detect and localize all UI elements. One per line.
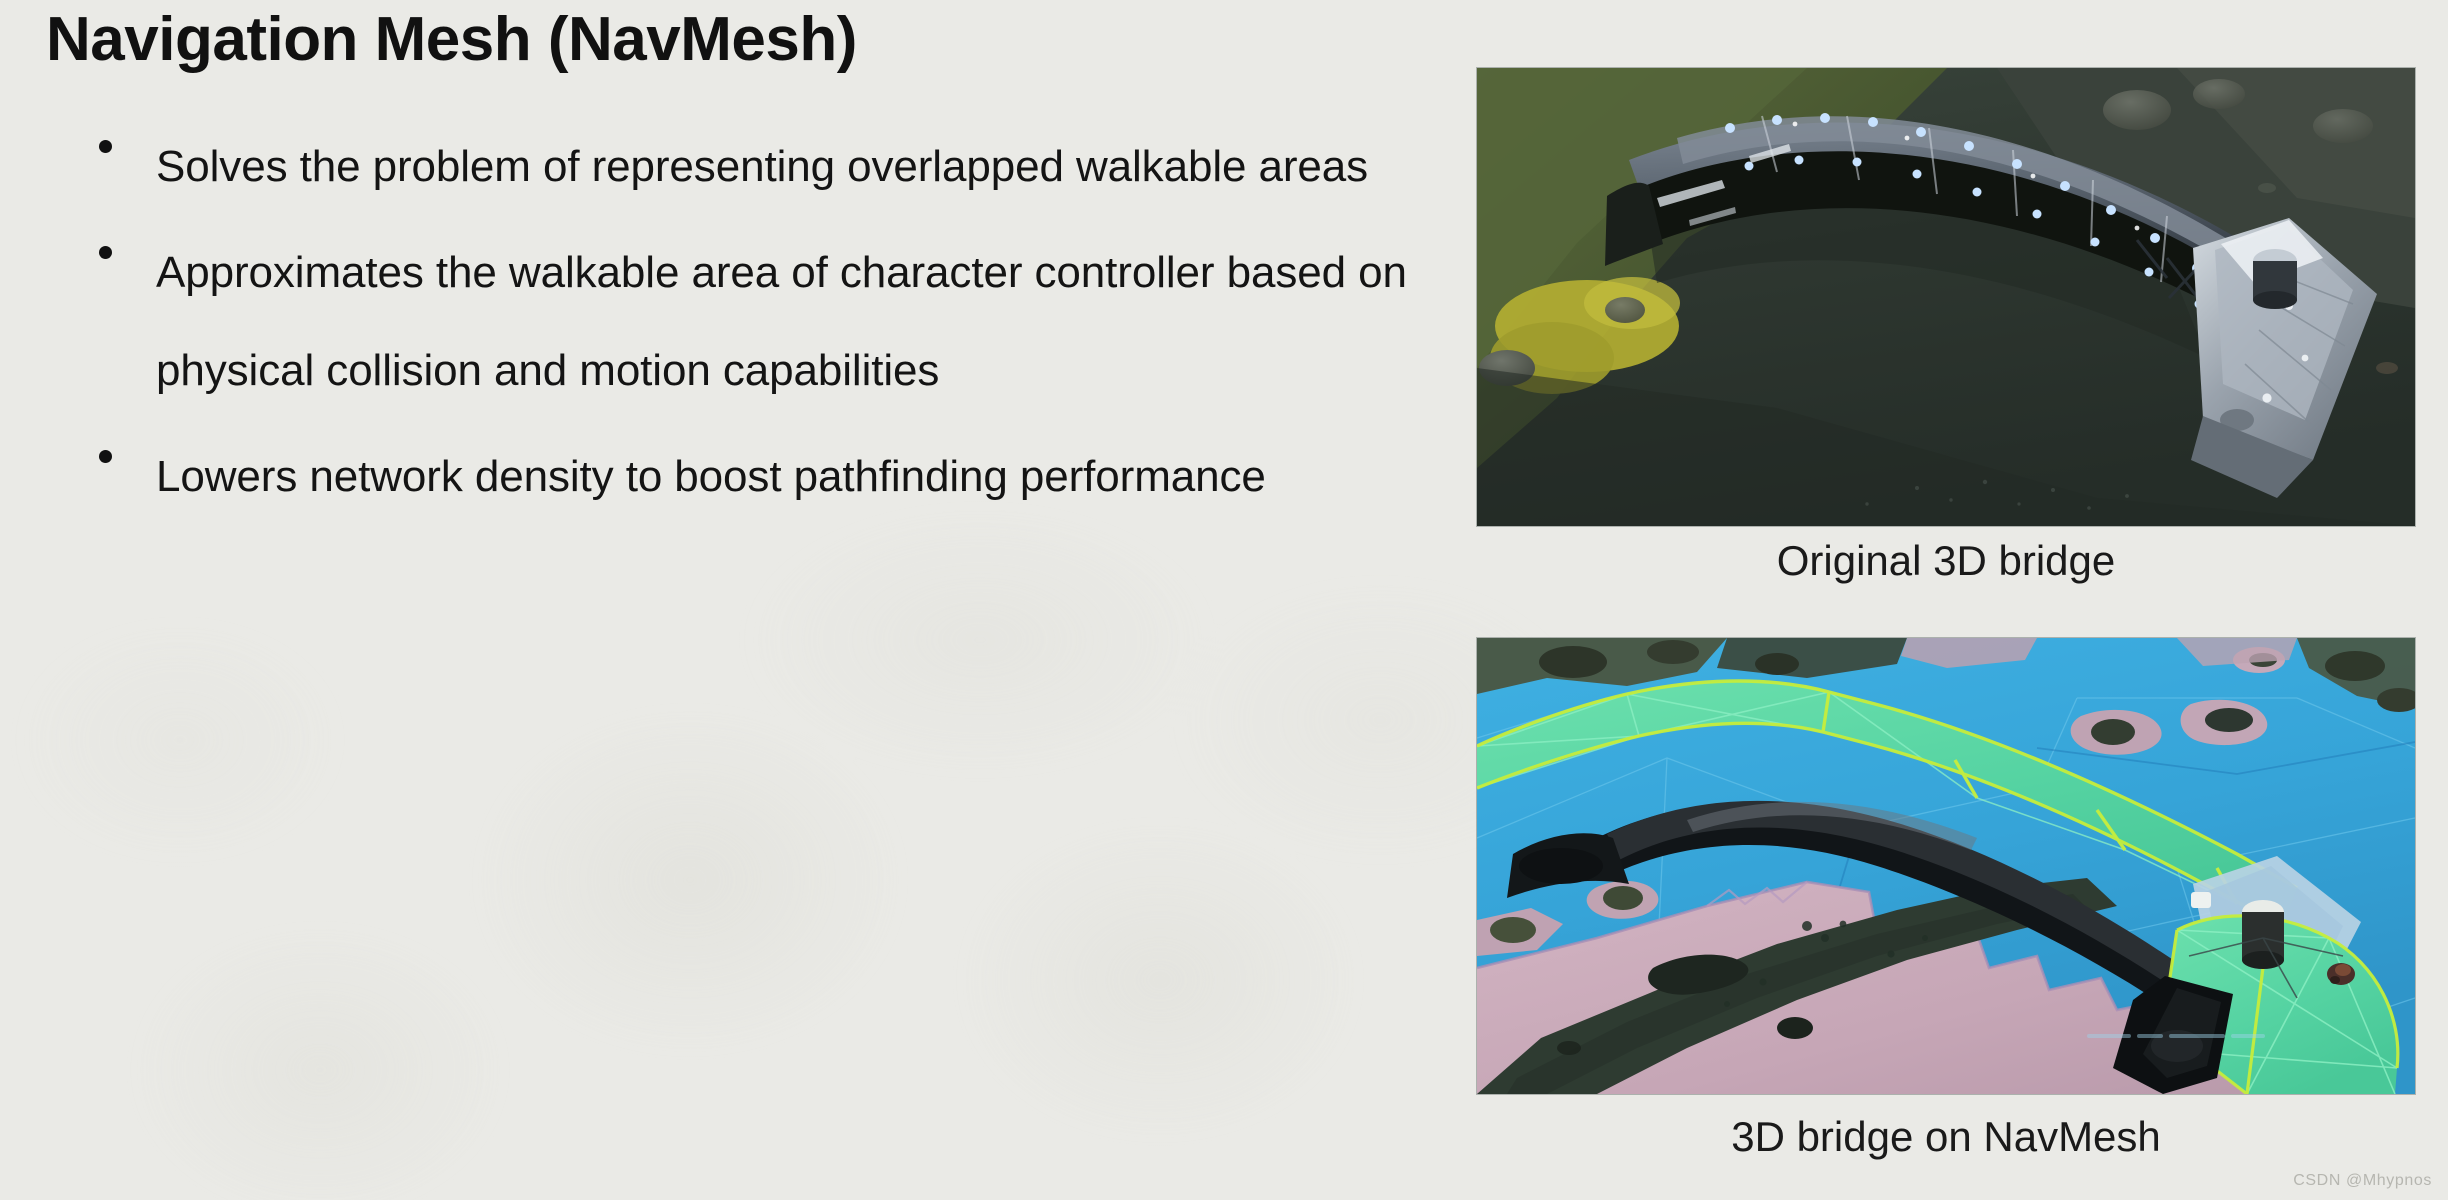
bullet-text: Lowers network density to boost pathfind… [156, 428, 1426, 526]
figure-caption-original: Original 3D bridge [1477, 537, 2415, 585]
bullet-text: Solves the problem of representing overl… [156, 118, 1426, 216]
figure-3d-bridge-on-navmesh [1477, 638, 2415, 1094]
figure-caption-navmesh: 3D bridge on NavMesh [1477, 1113, 2415, 1161]
bullet-list: Solves the problem of representing overl… [46, 118, 1426, 534]
bullet-dot-icon [99, 140, 112, 153]
list-item: Approximates the walkable area of charac… [46, 224, 1426, 420]
figure-original-3d-bridge [1477, 68, 2415, 526]
bullet-dot-icon [99, 450, 112, 463]
slide-canvas: Navigation Mesh (NavMesh) Solves the pro… [0, 0, 2448, 1200]
csdn-watermark: CSDN @Mhypnos [2293, 1172, 2432, 1190]
navmesh-overlay-illustration [1477, 638, 2415, 1094]
bullet-text: Approximates the walkable area of charac… [156, 224, 1426, 420]
page-title: Navigation Mesh (NavMesh) [46, 4, 857, 75]
list-item: Lowers network density to boost pathfind… [46, 428, 1426, 526]
original-3d-bridge-illustration [1477, 68, 2415, 526]
bullet-dot-icon [99, 246, 112, 259]
list-item: Solves the problem of representing overl… [46, 118, 1426, 216]
